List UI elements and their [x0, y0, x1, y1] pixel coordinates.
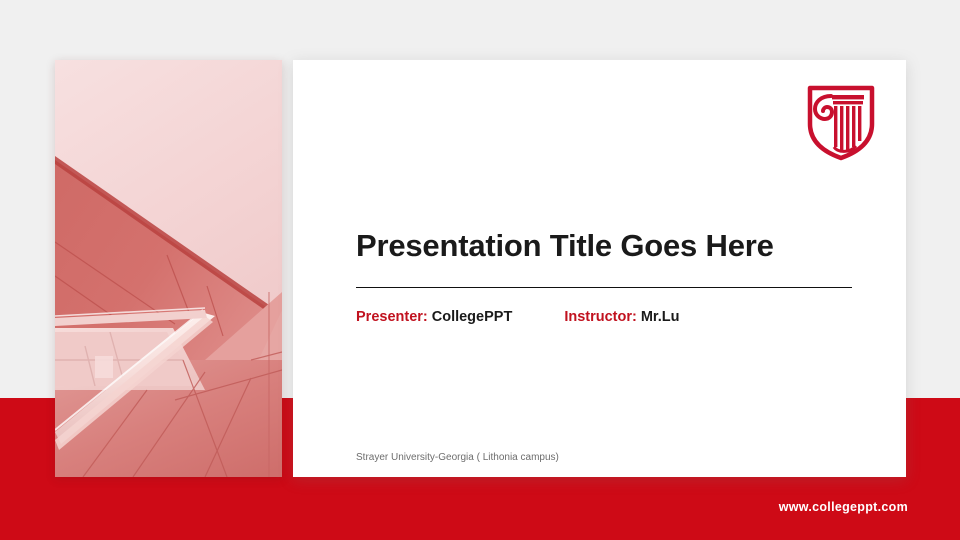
content-card: Presentation Title Goes Here Presenter:C…: [293, 60, 906, 477]
instructor-item: Instructor:Mr.Lu: [564, 309, 679, 325]
page-title: Presentation Title Goes Here: [356, 228, 774, 264]
instructor-value: Mr.Lu: [641, 309, 680, 325]
presenter-value: CollegePPT: [432, 309, 513, 325]
cover-photo: [55, 60, 282, 477]
presenter-label: Presenter:: [356, 309, 428, 325]
presenter-item: Presenter:CollegePPT: [356, 309, 512, 325]
site-url-text: www.collegeppt.com: [779, 500, 908, 514]
shield-with-column-icon: [804, 82, 878, 162]
title-divider: [356, 287, 852, 288]
university-logo: [804, 82, 878, 162]
institution-footnote: Strayer University-Georgia ( Lithonia ca…: [356, 452, 559, 463]
instructor-label: Instructor:: [564, 309, 637, 325]
meta-row: Presenter:CollegePPT Instructor:Mr.Lu: [356, 309, 680, 325]
presentation-slide: www.collegeppt.com: [0, 0, 960, 540]
architectural-abstract-illustration: [55, 60, 282, 477]
